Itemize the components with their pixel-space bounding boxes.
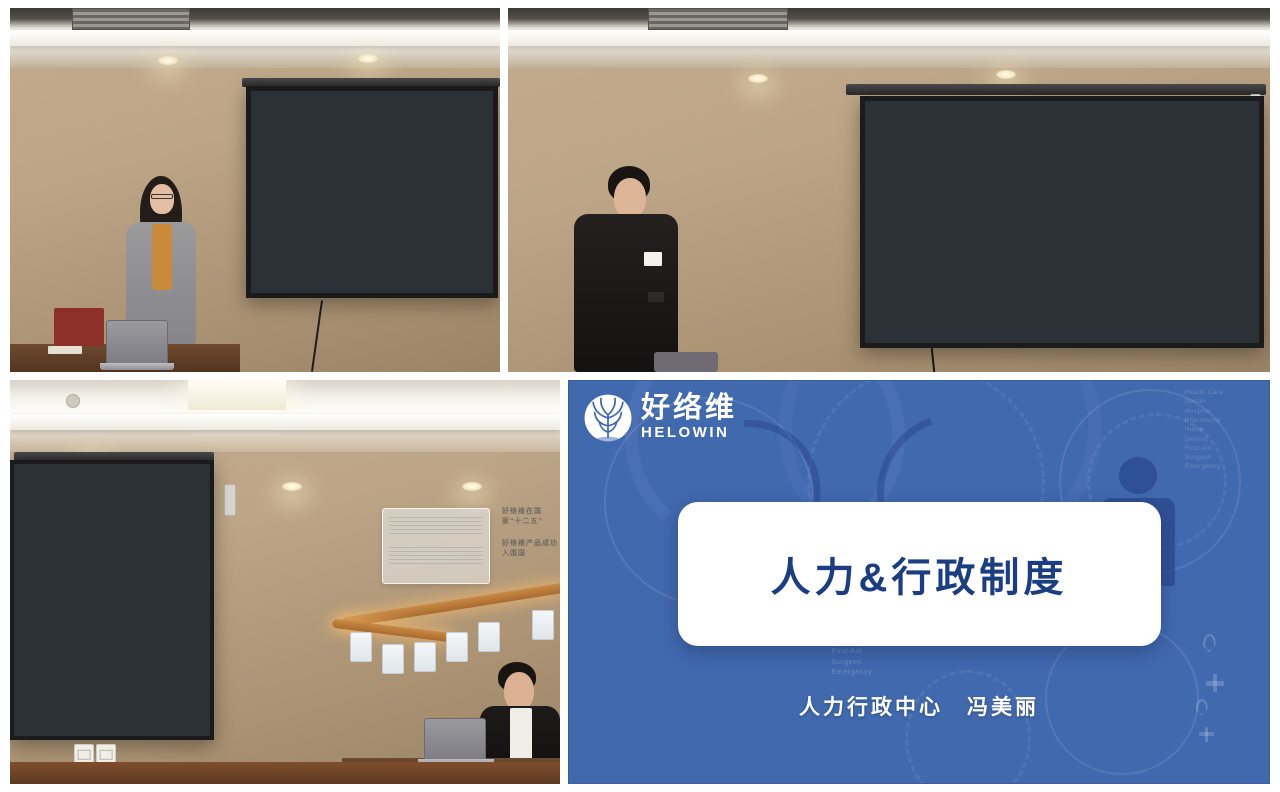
downlight-icon xyxy=(282,482,302,491)
certificate-frame xyxy=(446,632,468,662)
chair xyxy=(654,352,718,372)
face xyxy=(614,178,646,218)
photo-collage: 好络维 HELOWIN 医疗器械法规 讲解师：法规部 张丽 时间：2021年4月… xyxy=(0,0,1280,792)
helowin-logo: 好络维 HELOWIN xyxy=(583,393,737,443)
slide-presenter: 人力行政中心 冯美丽 xyxy=(569,691,1269,721)
screen-remote xyxy=(224,484,236,516)
dress-shirt xyxy=(510,708,532,762)
wall-headline-1: 好络维在国家“十二五” xyxy=(502,506,560,526)
certificate-frame xyxy=(382,644,404,674)
certificate-frame xyxy=(478,622,500,652)
map-pin-icon xyxy=(1203,634,1216,652)
projection-screen: HELOWIN 交通费 公交车 出租车 地铁 高铁车票 住宿 酒店住宿 员工宿舍… xyxy=(10,460,214,740)
panel-top-left: 好络维 HELOWIN 医疗器械法规 讲解师：法规部 张丽 时间：2021年4月… xyxy=(10,8,500,372)
projection-screen: 好络维 HELOWIN 医疗器械法规 讲解师：法规部 张丽 时间：2021年4月… xyxy=(246,86,498,298)
downlight-icon xyxy=(158,56,178,65)
floor xyxy=(10,762,560,784)
decorative-ring xyxy=(905,670,1031,783)
notebook xyxy=(48,346,82,354)
person-figure-icon xyxy=(1119,457,1158,493)
certificate-frame xyxy=(350,632,372,662)
downlight-icon xyxy=(996,70,1016,79)
wall-panel-text-block xyxy=(389,517,483,537)
ceiling-cove xyxy=(508,30,1270,46)
presenter-clicker xyxy=(648,292,664,302)
laptop-screen xyxy=(424,718,486,760)
slide-title: 人力&行政制度 xyxy=(771,545,1068,603)
logo-brand-cn: 好络维 xyxy=(641,394,737,423)
downlight-icon xyxy=(462,482,482,491)
downlight-icon xyxy=(748,74,768,83)
slide-title-card: 人力&行政制度 xyxy=(678,502,1161,647)
glasses-icon xyxy=(151,194,173,199)
certificate-frame xyxy=(532,610,554,640)
laptop-base xyxy=(100,363,174,370)
wall-info-panel xyxy=(382,508,490,584)
red-box xyxy=(54,308,104,346)
logo-brand-en: HELOWIN xyxy=(641,425,737,442)
wall-panel-text-block xyxy=(389,547,483,567)
face xyxy=(504,672,534,710)
name-badge xyxy=(644,252,662,266)
panel-bottom-left: HELOWIN 交通费 公交车 出租车 地铁 高铁车票 住宿 酒店住宿 员工宿舍… xyxy=(10,380,560,784)
ceiling-vent-icon xyxy=(72,8,190,30)
ceiling-cove xyxy=(10,30,500,46)
panel-top-right: HELOWIN 质量管理体系发展历史 质量（检验管理） (1920-1940) … xyxy=(508,8,1270,372)
screen-roller xyxy=(846,84,1266,95)
inner-top xyxy=(152,224,172,290)
ceiling-cove xyxy=(10,414,560,430)
background-keywords-right: Health Care Doctor Hospital Pharmacist N… xyxy=(1185,389,1224,473)
projection-screen: HELOWIN 质量管理体系发展历史 质量（检验管理） (1920-1940) … xyxy=(860,96,1264,348)
medical-cross-icon xyxy=(1199,727,1214,742)
laptop-screen xyxy=(106,320,168,364)
tree-emblem-icon xyxy=(583,393,633,443)
face xyxy=(150,184,174,214)
wall-headline-2: 好络维产品成功入围国 xyxy=(502,538,560,558)
smoke-detector-icon xyxy=(66,394,80,408)
ceiling-skylight xyxy=(188,380,286,410)
ceiling-vent-icon xyxy=(648,8,788,30)
panel-bottom-right: Pharmacist Nurse Dentist First Aid Surge… xyxy=(568,380,1270,784)
downlight-icon xyxy=(358,54,378,63)
certificate-frame xyxy=(414,642,436,672)
